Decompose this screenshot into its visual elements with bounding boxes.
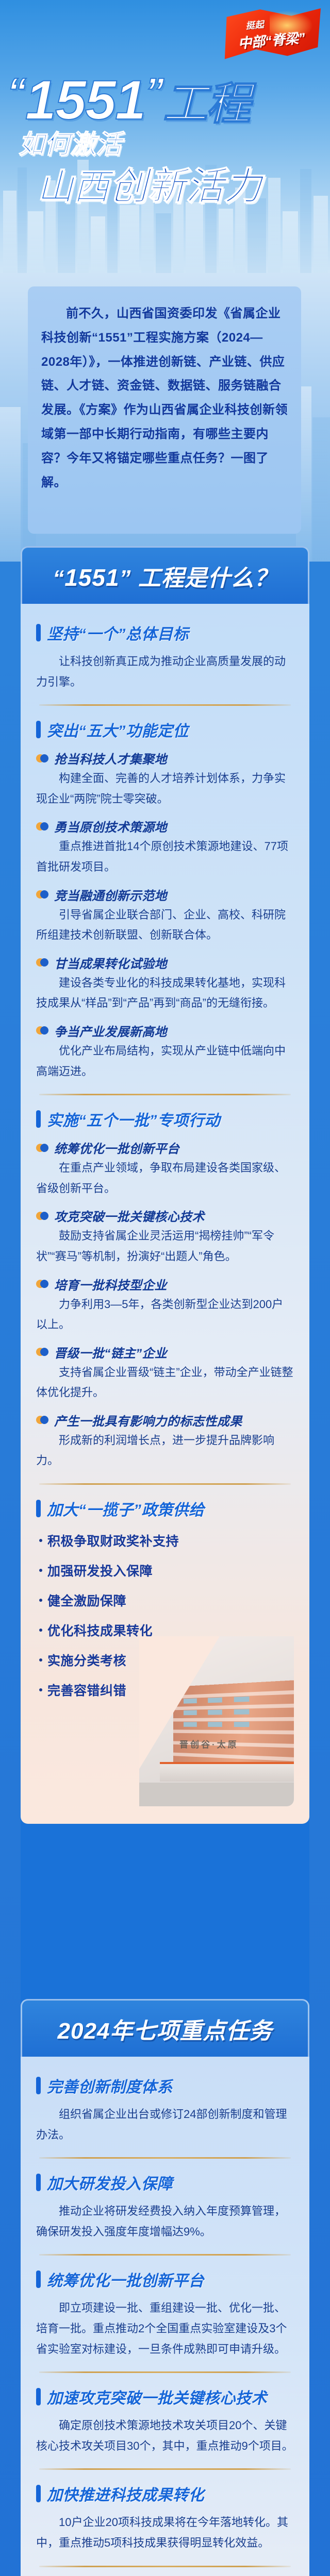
list-item: 甘当成果转化试验地 建设各类专业化的科技成果转化基地，实现科技成果从“样品”到“… — [36, 954, 294, 1013]
sub-title: 勇当原创技术策源地 — [54, 817, 167, 835]
task-text: 10户企业20项科技成果将在今年落地转化。其中，重点推动5项科技成果获得明显转化… — [36, 2512, 294, 2553]
block-title: 坚持“一个”总体目标 — [47, 621, 189, 644]
task-title: 加大研发投入保障 — [47, 2171, 173, 2194]
list-item: 抢当科技人才集聚地 构建全面、完善的人才培养计划体系，力争实现企业“两院”院士零… — [36, 749, 294, 809]
red-flag-badge: 挺起 中部“脊梁” — [223, 7, 321, 61]
task-header: 加大研发投入保障 — [36, 2171, 294, 2194]
task-title: 加快推进科技成果转化 — [47, 2482, 204, 2505]
sub-title: 争当产业发展新高地 — [54, 1022, 167, 1040]
block-header-five-batches: 实施“五个一批”专项行动 — [36, 1108, 294, 1130]
hero-quote-open: “ — [7, 70, 25, 113]
task-text: 组织省属企业出台或修订24部创新制度和管理办法。 — [36, 2104, 294, 2145]
hero-subtitle-2b: 创新活力 — [109, 165, 262, 208]
list-item: 产生一批具有影响力的标志性成果 形成新的利润增长点，进一步提升品牌影响力。 — [36, 1411, 294, 1471]
s1-quote-close: ” — [120, 566, 131, 591]
sub-text: 在重点产业领域，争取布局建设各类国家级、省级创新平台。 — [36, 1158, 294, 1198]
intro-paragraph: 前不久，山西省国资委印发《省属企业科技创新“1551”工程实施方案（2024—2… — [41, 302, 288, 495]
list-item: 晋级一批“链主”企业 支持省属企业晋级“链主”企业，带动全产业链整体优化提升。 — [36, 1343, 294, 1403]
list-item: 培育一批科技型企业 力争利用3—5年，各类创新型企业达到200户以上。 — [36, 1275, 294, 1335]
list-item: 加强研发投入保障 — [39, 1561, 294, 1580]
sub-title: 培育一批科技型企业 — [54, 1275, 167, 1293]
bullet-dot-icon — [36, 1416, 48, 1424]
section-2024-title: 2024年七项重点任务 — [58, 2012, 273, 2045]
divider-rule — [39, 1483, 291, 1485]
divider-rule — [39, 2566, 291, 2567]
block-paragraph: 让科技创新真正成为推动企业高质量发展的动力引擎。 — [36, 651, 294, 692]
dot-icon — [39, 1658, 42, 1662]
dot-icon — [39, 1629, 42, 1632]
bullet-dot-icon — [36, 1280, 48, 1288]
policy-label: 积极争取财政奖补支持 — [47, 1531, 179, 1550]
block-header-five-functions: 突出“五大”功能定位 — [36, 718, 294, 741]
task-header: 加速攻克突破一批关键核心技术 — [36, 2385, 294, 2408]
hero-gongcheng: 工程 — [163, 79, 250, 129]
header-bar-icon — [36, 1110, 41, 1128]
s1-title-rest: 工程是什么？ — [131, 566, 277, 591]
sub-title: 竞当融通创新示范地 — [54, 886, 167, 904]
divider-rule — [39, 2157, 291, 2159]
bullet-dot-icon — [36, 958, 48, 967]
sub-title: 抢当科技人才集聚地 — [54, 749, 167, 767]
policy-label: 加强研发投入保障 — [47, 1561, 153, 1580]
s1-number: 1551 — [64, 564, 119, 591]
section-2024-header: 2024年七项重点任务 — [21, 1999, 309, 2057]
section-1551-panel: “1551” 工程是什么？ 坚持“一个”总体目标 让科技创新真正成为推动企业高质… — [21, 546, 309, 1824]
list-item: 积极争取财政奖补支持 — [39, 1531, 294, 1550]
intro-card: 前不久，山西省国资委印发《省属企业科技创新“1551”工程实施方案（2024—2… — [28, 286, 301, 534]
building-photo: 晋创谷·太原 — [139, 1636, 294, 1806]
task-header: 加快推进科技成果转化 — [36, 2482, 294, 2505]
header-bar-icon — [36, 721, 41, 738]
sub-title: 统筹优化一批创新平台 — [54, 1139, 179, 1157]
task-text: 确定原创技术策源地技术攻关项目20个、关键核心技术攻关项目30个，其中，重点推动… — [36, 2415, 294, 2456]
bullet-dot-icon — [36, 754, 48, 762]
hero-number: 1551 — [25, 69, 145, 131]
bullet-dot-icon — [36, 1026, 48, 1035]
dot-icon — [39, 1688, 42, 1691]
dot-icon — [39, 1539, 42, 1542]
task-text: 即立项建设一批、重组建设一批、优化一批、培育一批。重点推动2个全国重点实验室建设… — [36, 2298, 294, 2359]
list-item: 竞当融通创新示范地 引导省属企业联合部门、企业、高校、科研院所组建技术创新联盟、… — [36, 886, 294, 945]
section-1551-header: “1551” 工程是什么？ — [21, 546, 309, 604]
sub-text: 重点推进首批14个原创技术策源地建设、77项首批研发项目。 — [36, 836, 294, 877]
block-title: 突出“五大”功能定位 — [47, 718, 189, 741]
task-header: 统筹优化一批创新平台 — [36, 2268, 294, 2291]
header-bar-icon — [36, 2270, 41, 2288]
header-bar-icon — [36, 624, 41, 641]
sub-text: 力争利用3—5年，各类创新型企业达到200户以上。 — [36, 1294, 294, 1335]
list-item: 统筹优化一批创新平台 在重点产业领域，争取布局建设各类国家级、省级创新平台。 — [36, 1139, 294, 1198]
hero-quote-close: ” — [145, 70, 163, 113]
s1-quote-open: “ — [53, 566, 64, 591]
sub-title: 攻克突破一批关键核心技术 — [54, 1207, 205, 1225]
sub-title: 甘当成果转化试验地 — [54, 954, 167, 972]
list-item: 攻克突破一批关键核心技术 鼓励支持省属企业灵活运用“揭榜挂帅”“军令状”“赛马”… — [36, 1207, 294, 1266]
block-title: 加大“一揽子”政策供给 — [47, 1497, 205, 1520]
section-2024-panel: 2024年七项重点任务 完善创新制度体系 组织省属企业出台或修订24部创新制度和… — [21, 1999, 309, 2576]
sub-text: 鼓励支持省属企业灵活运用“揭榜挂帅”“军令状”“赛马”等机制，扮演好“出题人”角… — [36, 1226, 294, 1266]
list-item: 勇当原创技术策源地 重点推进首批14个原创技术策源地建设、77项首批研发项目。 — [36, 817, 294, 877]
dot-icon — [39, 1599, 42, 1602]
sub-text: 构建全面、完善的人才培养计划体系，力争实现企业“两院”院士零突破。 — [36, 768, 294, 809]
divider-rule — [39, 1094, 291, 1095]
dot-icon — [39, 1569, 42, 1572]
header-bar-icon — [36, 2388, 41, 2405]
sub-title: 产生一批具有影响力的标志性成果 — [54, 1411, 242, 1429]
section-1551-body: 坚持“一个”总体目标 让科技创新真正成为推动企业高质量发展的动力引擎。 突出“五… — [21, 604, 309, 1824]
bullet-dot-icon — [36, 1212, 48, 1220]
block-header-goal: 坚持“一个”总体目标 — [36, 621, 294, 644]
bullet-dot-icon — [36, 822, 48, 831]
block-title: 实施“五个一批”专项行动 — [47, 1108, 220, 1130]
sub-text: 优化产业布局结构，实现从产业链中低端向中高端迈进。 — [36, 1041, 294, 1081]
policy-label: 优化科技成果转化 — [47, 1621, 153, 1639]
hero-subtitle-2a: 山西 — [37, 167, 109, 207]
divider-rule — [39, 2468, 291, 2470]
sub-text: 建设各类专业化的科技成果转化基地，实现科技成果从“样品”到“产品”再到“商品”的… — [36, 973, 294, 1013]
list-item: 健全激励保障 — [39, 1591, 294, 1609]
hero-title: “1551”工程 如何激活 山西创新活力 — [7, 73, 325, 211]
divider-rule — [39, 2254, 291, 2256]
header-bar-icon — [36, 2077, 41, 2094]
badge-line-1: 挺起 — [245, 17, 265, 31]
bullet-dot-icon — [36, 890, 48, 899]
bullet-dot-icon — [36, 1348, 48, 1356]
infographic-page: 挺起 中部“脊梁” “1551”工程 如何激活 山西创新活力 前不久，山西省国资… — [0, 0, 330, 2576]
task-header: 完善创新制度体系 — [36, 2074, 294, 2097]
policy-label: 健全激励保障 — [47, 1591, 126, 1609]
sub-text: 支持省属企业晋级“链主”企业，带动全产业链整体优化提升。 — [36, 1362, 294, 1403]
policy-label: 完善容错纠错 — [47, 1681, 126, 1699]
divider-rule — [39, 704, 291, 706]
header-bar-icon — [36, 1500, 41, 1517]
hero-banner: 挺起 中部“脊梁” “1551”工程 如何激活 山西创新活力 — [0, 0, 330, 289]
sub-text: 引导省属企业联合部门、企业、高校、科研院所组建技术创新联盟、创新联合体。 — [36, 905, 294, 945]
task-title: 完善创新制度体系 — [47, 2074, 173, 2097]
task-title: 加速攻克突破一批关键核心技术 — [47, 2385, 267, 2408]
task-title: 统筹优化一批创新平台 — [47, 2268, 204, 2291]
header-bar-icon — [36, 2174, 41, 2191]
divider-rule — [39, 2371, 291, 2373]
sub-text: 形成新的利润增长点，进一步提升品牌影响力。 — [36, 1430, 294, 1471]
section-2024-body: 完善创新制度体系 组织省属企业出台或修订24部创新制度和管理办法。 加大研发投入… — [21, 2057, 309, 2576]
task-text: 推动企业将研发经费投入纳入年度预算管理，确保研发投入强度年度增幅达9%。 — [36, 2201, 294, 2242]
sub-title: 晋级一批“链主”企业 — [54, 1343, 167, 1361]
building-sign-text: 晋创谷·太原 — [179, 1737, 239, 1750]
policy-label: 实施分类考核 — [47, 1651, 126, 1669]
building-facade — [173, 1680, 294, 1770]
block-header-policy: 加大“一揽子”政策供给 — [36, 1497, 294, 1520]
hero-subtitle-1: 如何激活 — [19, 130, 122, 159]
list-item: 争当产业发展新高地 优化产业布局结构，实现从产业链中低端向中高端迈进。 — [36, 1022, 294, 1081]
bullet-dot-icon — [36, 1144, 48, 1152]
header-bar-icon — [36, 2485, 41, 2502]
